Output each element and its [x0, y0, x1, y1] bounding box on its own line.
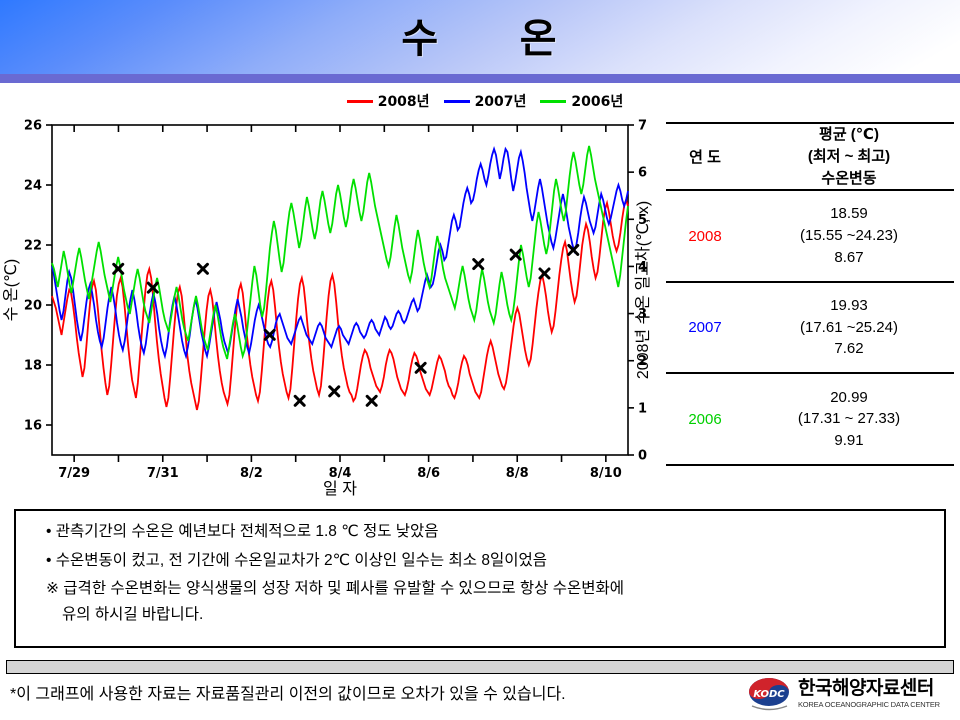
water-temperature-chart: 161820222426 01234567 7/297/318/28/48/68… — [0, 112, 660, 502]
table-head: 연 도 평균 (℃) (최저 ~ 최고) 수온변동 — [666, 123, 954, 190]
plot-frame — [52, 125, 628, 455]
x-tick-label: 8/8 — [506, 466, 529, 481]
table-header-row: 연 도 평균 (℃) (최저 ~ 최고) 수온변동 — [666, 123, 954, 190]
slide-page: 수 온 2008년 2007년 2006년 161820222426 01234… — [0, 0, 960, 720]
header-accent-rule — [0, 74, 960, 83]
row-values-2007: 19.93 (17.61 ~25.24) 7.62 — [744, 282, 954, 374]
footer-disclaimer: *이 그래프에 사용한 자료는 자료품질관리 이전의 값이므로 오차가 있을 수… — [10, 680, 740, 704]
legend-item-2008: 2008년 — [347, 91, 430, 111]
row-variation-2007: 7.62 — [744, 338, 954, 360]
legend-item-2006: 2006년 — [540, 91, 623, 111]
table-row: 2006 20.99 (17.31 ~ 27.33) 9.91 — [666, 373, 954, 465]
legend-item-2007: 2007년 — [444, 91, 527, 111]
header-value-line-2: (최저 ~ 최고) — [744, 146, 954, 168]
page-title: 수 온 — [0, 6, 960, 64]
row-variation-2006: 9.91 — [744, 430, 954, 452]
y-tick-label-right: 7 — [638, 119, 647, 134]
y-axis-left: 161820222426 — [24, 119, 52, 434]
header-year: 연 도 — [666, 123, 744, 190]
x-tick-label: 7/29 — [58, 466, 90, 481]
x-tick-label: 8/4 — [329, 466, 352, 481]
y-axis-right-label: 2008년 수온 일교차(℃, x) — [634, 201, 652, 379]
logo-text-block: 한국해양자료센터 KOREA OCEANOGRAPHIC DATA CENTER — [798, 679, 940, 709]
header-value-line-1: 평균 (℃) — [744, 124, 954, 146]
row-mean-2008: 18.59 — [744, 203, 954, 225]
row-year-2006: 2006 — [666, 373, 744, 465]
kodc-logo: KODC 한국해양자료센터 KOREA OCEANOGRAPHIC DATA C… — [748, 672, 954, 716]
y-tick-label-left: 20 — [24, 299, 42, 314]
range-marker-x-icon — [540, 269, 549, 278]
y-axis-left-label: 수 온(℃) — [2, 259, 20, 322]
row-year-2007: 2007 — [666, 282, 744, 374]
x-tick-label: 8/10 — [590, 466, 622, 481]
series-line-2007년 — [52, 149, 628, 356]
y-tick-label-left: 24 — [24, 179, 42, 194]
range-marker-x-icon — [367, 396, 376, 405]
legend-label-2006: 2006년 — [571, 91, 623, 111]
row-mean-2006: 20.99 — [744, 387, 954, 409]
y-tick-label-right: 1 — [638, 401, 647, 416]
legend-label-2008: 2008년 — [378, 91, 430, 111]
legend-swatch-2007 — [444, 100, 470, 103]
y-tick-label-left: 26 — [24, 119, 42, 134]
header-value-line-3: 수온변동 — [744, 168, 954, 190]
row-values-2008: 18.59 (15.55 ~24.23) 8.67 — [744, 190, 954, 282]
y-tick-label-left: 16 — [24, 419, 42, 434]
logo-subtitle: KOREA OCEANOGRAPHIC DATA CENTER — [798, 701, 940, 709]
table-row: 2007 19.93 (17.61 ~25.24) 7.62 — [666, 282, 954, 374]
row-range-2008: (15.55 ~24.23) — [744, 225, 954, 247]
kodc-emblem-icon: KODC — [748, 676, 792, 712]
x-tick-label: 8/6 — [417, 466, 440, 481]
row-range-2006: (17.31 ~ 27.33) — [744, 408, 954, 430]
range-marker-x-icon — [474, 260, 483, 269]
x-tick-label: 7/31 — [147, 466, 179, 481]
table-body: 2008 18.59 (15.55 ~24.23) 8.67 2007 19.9… — [666, 190, 954, 465]
notes-box: • 관측기간의 수온은 예년보다 전체적으로 1.8 ℃ 정도 낮았음 • 수온… — [14, 509, 946, 648]
legend-swatch-2008 — [347, 100, 373, 103]
row-values-2006: 20.99 (17.31 ~ 27.33) 9.91 — [744, 373, 954, 465]
y-tick-label-right: 6 — [638, 166, 647, 181]
table-row: 2008 18.59 (15.55 ~24.23) 8.67 — [666, 190, 954, 282]
range-marker-x-icon — [295, 396, 304, 405]
x-tick-label: 8/2 — [240, 466, 263, 481]
y-tick-label-left: 22 — [24, 239, 42, 254]
logo-title: 한국해양자료센터 — [798, 679, 940, 699]
legend-label-2007: 2007년 — [475, 91, 527, 111]
header-value: 평균 (℃) (최저 ~ 최고) 수온변동 — [744, 123, 954, 190]
x-axis-label: 일 자 — [323, 480, 357, 498]
row-variation-2008: 8.67 — [744, 247, 954, 269]
note-line-2: • 수온변동이 컸고, 전 기간에 수온일교차가 2℃ 이상인 일수는 최소 8… — [46, 553, 926, 569]
chart-legend: 2008년 2007년 2006년 — [330, 90, 640, 112]
range-marker-x-icon — [330, 387, 339, 396]
chart-svg: 161820222426 01234567 7/297/318/28/48/68… — [0, 112, 660, 502]
row-mean-2007: 19.93 — [744, 295, 954, 317]
note-line-1: • 관측기간의 수온은 예년보다 전체적으로 1.8 ℃ 정도 낮았음 — [46, 524, 926, 540]
kodc-emblem-text: KODC — [753, 689, 785, 700]
y-tick-label-left: 18 — [24, 359, 42, 374]
y-tick-label-right: 0 — [638, 449, 647, 464]
row-year-2008: 2008 — [666, 190, 744, 282]
legend-swatch-2006 — [540, 100, 566, 103]
note-line-3: ※ 급격한 수온변화는 양식생물의 성장 저하 및 폐사를 유발할 수 있으므로… — [46, 581, 926, 597]
note-line-4: 유의 하시길 바랍니다. — [46, 607, 926, 623]
summary-statistics-table: 연 도 평균 (℃) (최저 ~ 최고) 수온변동 2008 18.59 (15… — [666, 122, 954, 466]
row-range-2007: (17.61 ~25.24) — [744, 317, 954, 339]
range-marker-x-icon — [198, 264, 207, 273]
